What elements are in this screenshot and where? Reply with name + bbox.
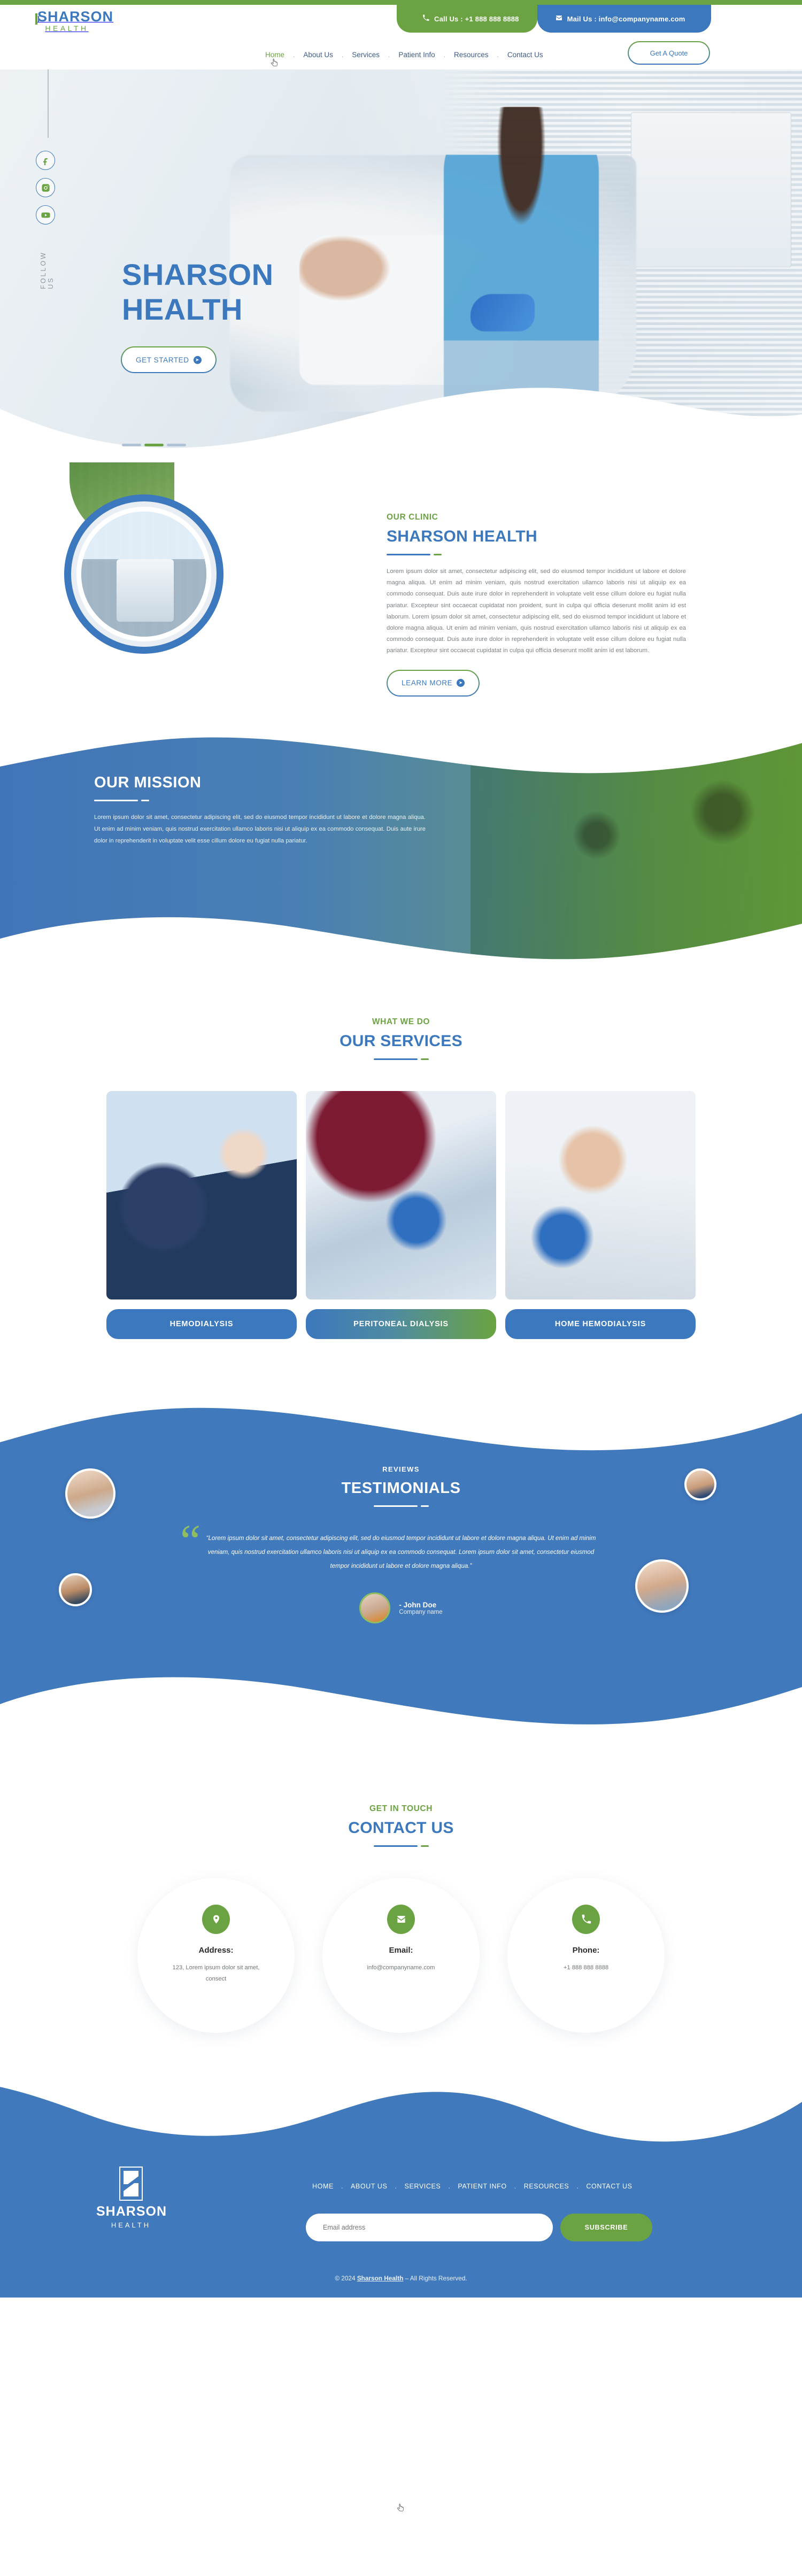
hero-slider-dots [122, 444, 186, 446]
mission-section: OUR MISSION Lorem ipsum dolor sit amet, … [0, 734, 802, 964]
mail-icon [387, 1905, 415, 1934]
get-started-button[interactable]: GET STARTED ➤ [121, 346, 217, 373]
testimonial-author-name: - John Doe [399, 1601, 442, 1609]
nav-item-about-us[interactable]: About Us [295, 51, 342, 59]
mission-title: OUR MISSION [94, 774, 426, 792]
mouse-cursor-icon [271, 58, 278, 69]
clinic-title-rule [387, 554, 686, 555]
mission-body: Lorem ipsum dolor sit amet, consectetur … [94, 812, 426, 847]
service-button-hemodialysis[interactable]: HEMODIALYSIS [106, 1309, 297, 1339]
footer-nav-resources[interactable]: RESOURCES [516, 2183, 577, 2190]
hero-bottom-wave [0, 377, 802, 461]
contact-value-phone: +1 888 888 8888 [538, 1962, 634, 1974]
testimonial-avatar-2 [684, 1468, 716, 1500]
services-title-rule [0, 1058, 802, 1060]
footer-nav: HOME . ABOUT US . SERVICES . PATIENT INF… [305, 2183, 640, 2190]
header-mail-text: Mail Us : info@companyname.com [567, 15, 685, 23]
clinic-artwork [59, 462, 326, 719]
chevron-right-icon: ➤ [457, 679, 465, 687]
logo-mark-icon [119, 2167, 143, 2201]
hero-nurse-image [444, 107, 599, 406]
clinic-title: SHARSON HEALTH [387, 528, 686, 546]
contact-card-address[interactable]: Address: 123, Lorem ipsum dolor sit amet… [137, 1878, 295, 2033]
service-button-peritoneal-dialysis[interactable]: PERITONEAL DIALYSIS [306, 1309, 496, 1339]
nav-item-services[interactable]: Services [343, 51, 388, 59]
footer-nav-about-us[interactable]: ABOUT US [343, 2183, 395, 2190]
footer-logo-name: SHARSON [96, 2204, 166, 2219]
footer-nav-contact-us[interactable]: CONTACT US [579, 2183, 639, 2190]
service-card[interactable]: HEMODIALYSIS [106, 1091, 297, 1339]
header-phone-text: Call Us : +1 888 888 8888 [434, 15, 519, 23]
logo-subtitle: HEALTH [45, 24, 88, 33]
contact-heading: GET IN TOUCH CONTACT US [0, 1804, 802, 1847]
header-contact-pills: Call Us : +1 888 888 8888 Mail Us : info… [397, 5, 711, 33]
copyright-text: © 2024 Sharson Health – All Rights Reser… [0, 2275, 802, 2282]
clinic-cta-wrap: LEARN MORE ➤ [387, 670, 686, 697]
footer-logo[interactable]: SHARSON HEALTH [96, 2167, 166, 2229]
testimonial-quote-block: “ “Lorem ipsum dolor sit amet, consectet… [206, 1531, 596, 1623]
hero-title: SHARSON HEALTH [122, 258, 274, 327]
phone-icon [422, 14, 429, 23]
testimonials-eyebrow: REVIEWS [0, 1465, 802, 1473]
footer-nav-patient-info[interactable]: PATIENT INFO [450, 2183, 514, 2190]
learn-more-button[interactable]: LEARN MORE ➤ [387, 670, 480, 697]
follow-us-label: FOLLOW US [40, 251, 55, 289]
header-mail-pill[interactable]: Mail Us : info@companyname.com [537, 5, 711, 33]
site-footer: SHARSON HEALTH HOME . ABOUT US . SERVICE… [0, 2086, 802, 2297]
testimonials-title: TESTIMONIALS [0, 1480, 802, 1497]
services-heading: WHAT WE DO OUR SERVICES [0, 1017, 802, 1060]
hero-title-line1: SHARSON [122, 258, 274, 292]
nav-item-home[interactable]: Home [257, 51, 293, 59]
hero-monitor-image [631, 112, 791, 267]
footer-nav-services[interactable]: SERVICES [397, 2183, 449, 2190]
subscribe-button[interactable]: SUBSCRIBE [560, 2214, 652, 2241]
hero-cta-wrap: GET STARTED ➤ [121, 346, 217, 373]
main-nav: Home . About Us . Services . Patient Inf… [257, 51, 552, 59]
header-phone-pill[interactable]: Call Us : +1 888 888 8888 [397, 5, 537, 33]
testimonial-author-avatar [359, 1592, 390, 1623]
slider-dot-2[interactable] [144, 444, 164, 446]
footer-nav-home[interactable]: HOME [305, 2183, 341, 2190]
contact-value-address: 123, Lorem ipsum dolor sit amet, consect [168, 1962, 264, 1984]
testimonial-author-block: - John Doe Company name [206, 1592, 596, 1623]
service-card[interactable]: HOME HEMODIALYSIS [505, 1091, 696, 1339]
learn-more-label: LEARN MORE [402, 679, 452, 687]
testimonials-title-rule [0, 1505, 802, 1507]
mission-text-block: OUR MISSION Lorem ipsum dolor sit amet, … [94, 774, 426, 847]
services-grid: HEMODIALYSIS PERITONEAL DIALYSIS HOME HE… [0, 1091, 802, 1339]
hero-social-links [36, 151, 55, 225]
testimonial-avatar-4 [635, 1559, 689, 1613]
copyright-post: – All Rights Reserved. [403, 2275, 467, 2282]
facebook-icon[interactable] [36, 151, 55, 170]
services-title: OUR SERVICES [0, 1032, 802, 1050]
contact-cards: Address: 123, Lorem ipsum dolor sit amet… [0, 1878, 802, 2033]
youtube-icon[interactable] [36, 205, 55, 225]
copyright-brand: Sharson Health [357, 2275, 404, 2282]
service-button-home-hemodialysis[interactable]: HOME HEMODIALYSIS [505, 1309, 696, 1339]
page-root: Call Us : +1 888 888 8888 Mail Us : info… [0, 0, 802, 2297]
contact-section: GET IN TOUCH CONTACT US Address: 123, Lo… [0, 1735, 802, 2033]
contact-label-phone: Phone: [573, 1946, 600, 1955]
contact-title: CONTACT US [0, 1819, 802, 1837]
contact-card-phone[interactable]: Phone: +1 888 888 8888 [507, 1878, 665, 2033]
clinic-circle-inner [76, 507, 211, 641]
slider-dot-1[interactable] [122, 444, 141, 446]
service-card[interactable]: PERITONEAL DIALYSIS [306, 1091, 496, 1339]
services-eyebrow: WHAT WE DO [0, 1017, 802, 1027]
clinic-eyebrow: OUR CLINIC [387, 513, 686, 522]
footer-top-wave [0, 2086, 802, 2150]
newsletter-form: SUBSCRIBE [306, 2214, 652, 2241]
get-a-quote-button[interactable]: Get A Quote [628, 41, 710, 65]
clinic-circle-frame [64, 494, 223, 654]
clinic-equipment-photo [81, 512, 206, 637]
testimonial-author-company: Company name [399, 1609, 442, 1615]
mouse-cursor-icon [397, 2503, 404, 2514]
quote-mark-icon: “ [180, 1518, 200, 1564]
clinic-body: Lorem ipsum dolor sit amet, consectetur … [387, 566, 686, 657]
contact-eyebrow: GET IN TOUCH [0, 1804, 802, 1814]
site-logo[interactable]: SHARSON HEALTH [35, 9, 98, 34]
logo-name: SHARSON [37, 9, 113, 25]
chevron-right-icon: ➤ [194, 356, 202, 364]
testimonial-avatar-3 [59, 1573, 92, 1606]
top-accent-bar [0, 0, 802, 5]
mission-bottom-wave [0, 916, 802, 964]
hero-section: FOLLOW US SHARSON HEALTH GET STARTED ➤ [0, 69, 802, 461]
instagram-icon[interactable] [36, 178, 55, 197]
service-image-home-hemodialysis [505, 1091, 696, 1299]
hero-vertical-line [48, 69, 49, 138]
service-image-hemodialysis [106, 1091, 297, 1299]
get-started-label: GET STARTED [136, 356, 189, 364]
mail-icon [556, 14, 562, 23]
nav-item-contact-us[interactable]: Contact Us [499, 51, 552, 59]
hero-title-line2: HEALTH [122, 292, 274, 327]
contact-title-rule [0, 1845, 802, 1847]
get-a-quote-label: Get A Quote [629, 42, 709, 64]
clinic-section: OUR CLINIC SHARSON HEALTH Lorem ipsum do… [0, 461, 802, 734]
testimonials-bottom-wave [0, 1676, 802, 1735]
testimonials-section: REVIEWS TESTIMONIALS “ “Lorem ipsum dolo… [0, 1403, 802, 1735]
mission-title-rule [94, 800, 426, 801]
nav-item-resources[interactable]: Resources [445, 51, 497, 59]
testimonial-avatar-1 [65, 1468, 115, 1519]
contact-card-email[interactable]: Email: info@companyname.com [322, 1878, 480, 2033]
logo-mark-icon [35, 13, 37, 25]
contact-label-address: Address: [198, 1946, 233, 1955]
footer-logo-subtitle: HEALTH [96, 2221, 166, 2229]
contact-value-email: info@companyname.com [353, 1962, 449, 1974]
slider-dot-3[interactable] [167, 444, 186, 446]
nav-item-patient-info[interactable]: Patient Info [390, 51, 443, 59]
clinic-text-block: OUR CLINIC SHARSON HEALTH Lorem ipsum do… [387, 513, 686, 697]
testimonial-quote-text: “Lorem ipsum dolor sit amet, consectetur… [206, 1531, 596, 1573]
services-section: WHAT WE DO OUR SERVICES HEMODIALYSIS PER… [0, 964, 802, 1403]
location-pin-icon [202, 1905, 230, 1934]
hero-glove-image [471, 294, 535, 331]
copyright-pre: © 2024 [335, 2275, 357, 2282]
phone-icon [572, 1905, 600, 1934]
service-image-peritoneal-dialysis [306, 1091, 496, 1299]
email-input[interactable] [306, 2214, 553, 2241]
contact-label-email: Email: [389, 1946, 413, 1955]
site-header: Call Us : +1 888 888 8888 Mail Us : info… [0, 5, 802, 69]
